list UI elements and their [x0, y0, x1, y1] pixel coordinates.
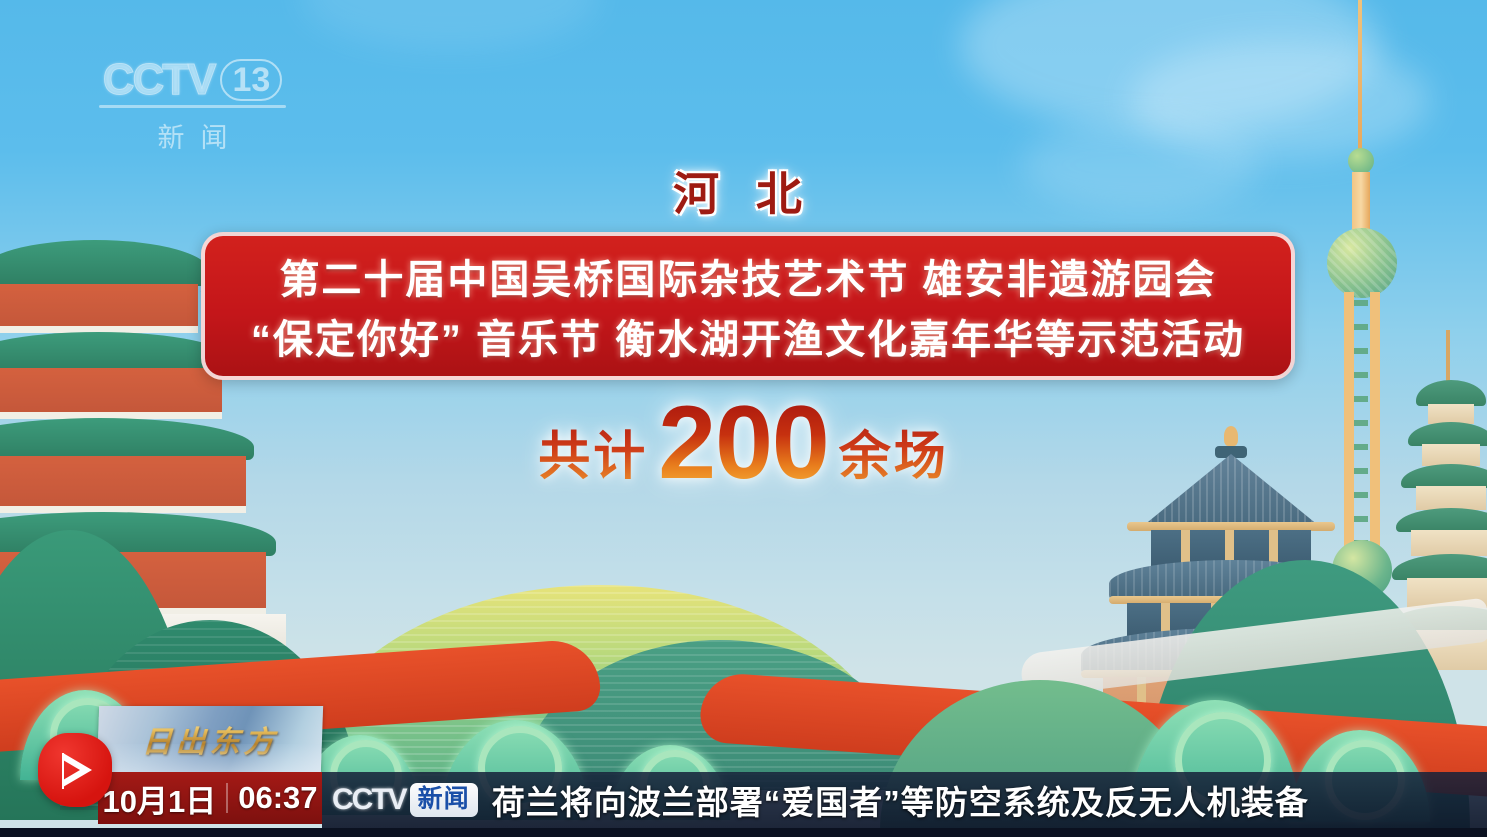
- statistic-line: 共计 200 余场: [0, 396, 1487, 492]
- channel-logo-letters: CCTV: [103, 58, 215, 102]
- statistic-suffix: 余场: [839, 414, 949, 492]
- broadcast-time: 06:37: [238, 780, 317, 816]
- ticker-headline: 荷兰将向波兰部署“爱国者”等防空系统及反无人机装备: [492, 776, 1309, 824]
- program-title-text: 日出东方: [141, 717, 279, 761]
- bottom-edge: [0, 828, 1487, 837]
- channel-logo-number: 13: [220, 59, 282, 101]
- channel-logo-chinese: 新闻: [95, 116, 290, 155]
- datetime-separator: [226, 783, 228, 813]
- news-ticker-bar: CCTV 新闻 荷兰将向波兰部署“爱国者”等防空系统及反无人机装备: [322, 772, 1487, 828]
- cloud-decoration: [300, 0, 600, 50]
- ticker-logo-letters: CCTV: [332, 783, 406, 817]
- program-title-badge: 日出东方: [97, 706, 323, 772]
- headline-banner-line-2: “保定你好” 音乐节 衡水湖开渔文化嘉年华等示范活动: [251, 307, 1245, 365]
- channel-logo: CCTV 13 新闻: [95, 58, 290, 155]
- statistic-number: 200: [658, 396, 829, 492]
- broadcast-date: 10月1日: [102, 776, 216, 821]
- province-title: 河 北: [0, 158, 1487, 224]
- ticker-logo-badge: 新闻: [410, 783, 478, 816]
- broadcast-screen: CCTV 13 新闻 河 北 第二十届中国吴桥国际杂技艺术节 雄安非遗游园会 “…: [0, 0, 1487, 837]
- play-button-logo[interactable]: [38, 733, 112, 807]
- statistic-prefix: 共计: [538, 414, 648, 492]
- headline-banner: 第二十届中国吴桥国际杂技艺术节 雄安非遗游园会 “保定你好” 音乐节 衡水湖开渔…: [201, 232, 1295, 380]
- ticker-channel-logo: CCTV 新闻: [332, 783, 478, 817]
- headline-banner-line-1: 第二十届中国吴桥国际杂技艺术节 雄安非遗游园会: [279, 247, 1216, 305]
- channel-logo-underline: [99, 105, 286, 108]
- datetime-bar: 10月1日 06:37: [98, 772, 322, 824]
- play-triangle-icon: [54, 750, 98, 792]
